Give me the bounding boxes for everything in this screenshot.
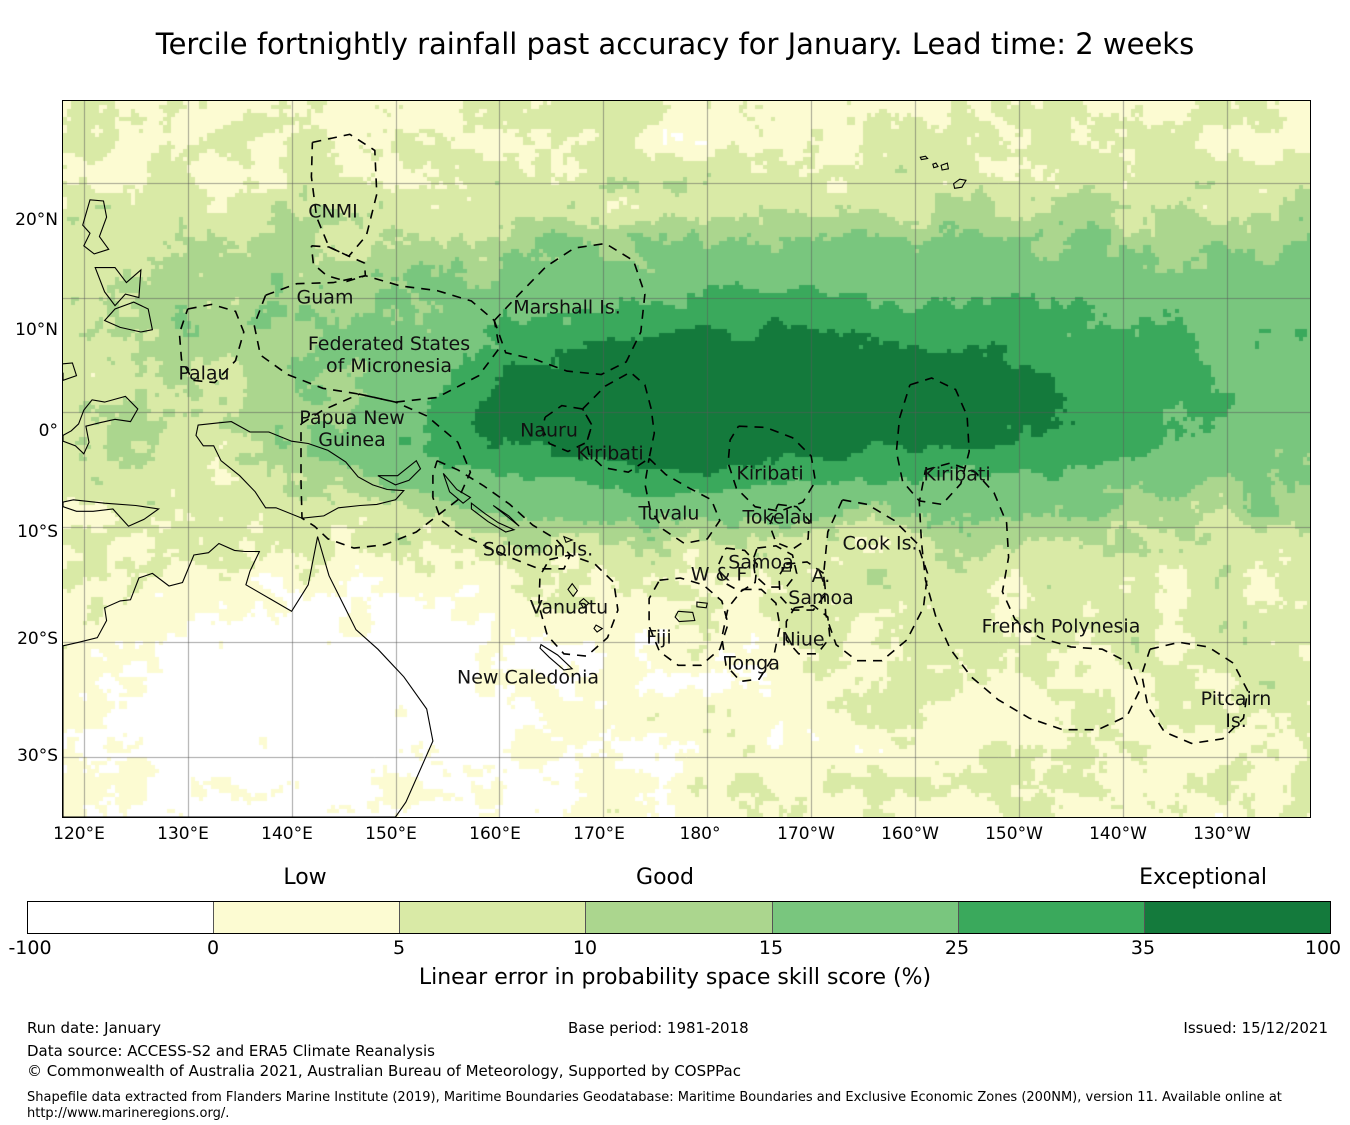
x-tick-10: 140°W [1089, 826, 1147, 843]
footer-run-date: Run date: January [27, 1019, 161, 1038]
y-tick-3: 10°S [17, 524, 58, 541]
x-tick-2: 140°E [261, 826, 313, 843]
x-tick-0: 120°E [53, 826, 105, 843]
colorbar-category-low: Low [283, 866, 326, 890]
y-tick-2: 0° [39, 423, 58, 440]
map-plot-area[interactable]: CNMIGuamMarshall Is.PalauFederated State… [62, 100, 1311, 818]
x-tick-4: 160°E [469, 826, 521, 843]
colorbar-tick-7: 100 [1305, 938, 1341, 958]
x-tick-7: 170°W [777, 826, 835, 843]
x-tick-3: 150°E [365, 826, 417, 843]
colorbar-category-good: Good [636, 866, 694, 890]
colorbar-tick-6: 35 [1131, 938, 1155, 958]
colorbar[interactable] [27, 901, 1331, 934]
y-tick-5: 30°S [17, 748, 58, 765]
y-tick-0: 20°N [15, 212, 58, 229]
x-tick-6: 180° [680, 826, 721, 843]
colorbar-segment-0 [28, 902, 213, 933]
colorbar-segment-4 [772, 902, 958, 933]
colorbar-category-exceptional: Exceptional [1139, 866, 1267, 890]
colorbar-segment-6 [1144, 902, 1330, 933]
colorbar-tick-2: 5 [393, 938, 405, 958]
footer-base-period: Base period: 1981-2018 [568, 1019, 749, 1038]
x-tick-9: 150°W [985, 826, 1043, 843]
colorbar-tick-4: 15 [759, 938, 783, 958]
footer-copyright: © Commonwealth of Australia 2021, Austra… [27, 1062, 741, 1081]
map-vector-overlay [63, 101, 1310, 817]
footer-shapefile-2: http://www.marineregions.org/. [27, 1105, 229, 1122]
colorbar-segment-2 [399, 902, 585, 933]
y-tick-4: 20°S [17, 631, 58, 648]
page-title: Tercile fortnightly rainfall past accura… [0, 26, 1350, 62]
colorbar-tick-0: -100 [8, 938, 51, 958]
footer-shapefile-1: Shapefile data extracted from Flanders M… [27, 1089, 1282, 1106]
colorbar-tick-5: 25 [945, 938, 969, 958]
x-tick-5: 170°E [573, 826, 625, 843]
x-tick-1: 130°E [157, 826, 209, 843]
colorbar-segment-5 [958, 902, 1144, 933]
footer-issued: Issued: 15/12/2021 [1183, 1019, 1328, 1038]
colorbar-segment-3 [585, 902, 771, 933]
colorbar-tick-3: 10 [573, 938, 597, 958]
footer-data-source: Data source: ACCESS-S2 and ERA5 Climate … [27, 1042, 435, 1061]
colorbar-axis-label: Linear error in probability space skill … [0, 965, 1350, 991]
colorbar-tick-1: 0 [207, 938, 219, 958]
x-tick-8: 160°W [881, 826, 939, 843]
colorbar-segment-1 [213, 902, 399, 933]
x-tick-11: 130°W [1193, 826, 1251, 843]
y-tick-1: 10°N [15, 322, 58, 339]
